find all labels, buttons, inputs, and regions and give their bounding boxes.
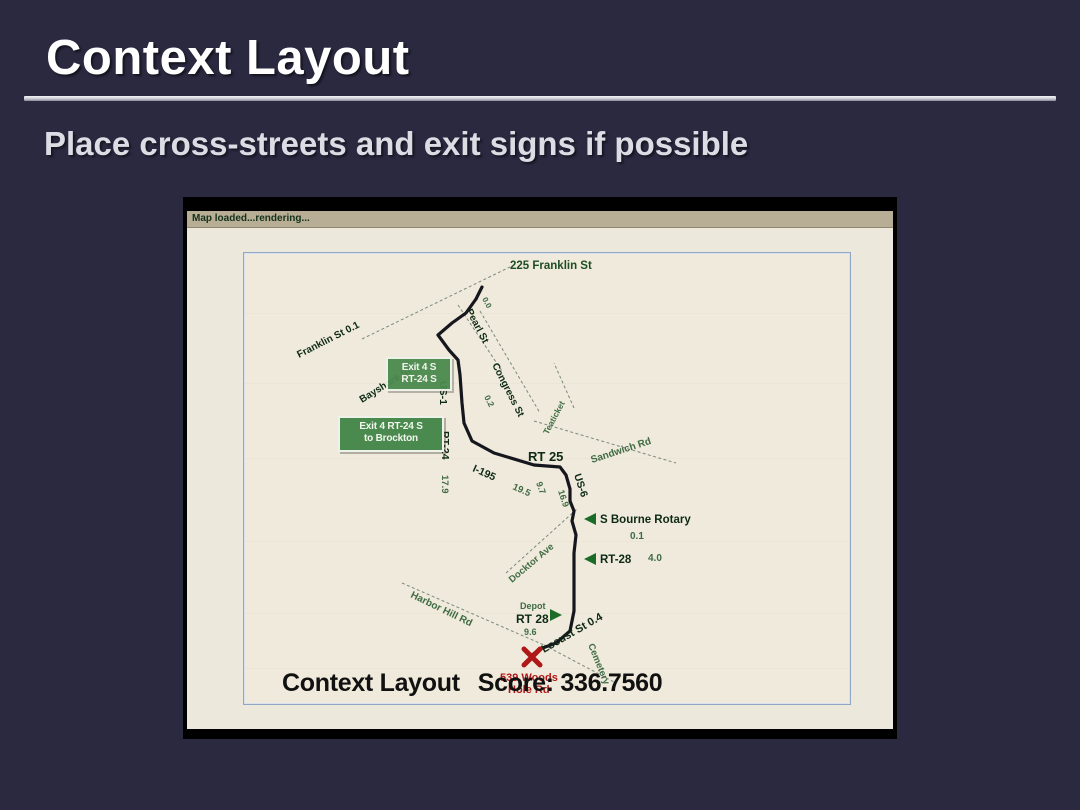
status-message: Map loaded...rendering... [192,213,310,224]
map-caption-score-label: Score: [478,669,554,697]
label-rt24-distance: 17.9 [439,475,450,494]
label-rt28-highway-distance: 4.0 [648,553,662,564]
map-canvas[interactable]: 225 Franklin St Franklin St 0.1 Pearl St… [243,252,851,705]
label-i195: I-195 [471,463,498,484]
embedded-app-screenshot: Map loaded...rendering... [183,197,897,739]
label-pearl-st-distance: 0.0 [480,296,493,311]
label-rt28: RT 28 [516,612,549,626]
slide-subtitle: Place cross-streets and exit signs if po… [44,125,748,163]
label-franklin-st: Franklin St 0.1 [295,320,361,361]
exit-sign-brockton-line1: Exit 4 RT-24 S [345,421,437,433]
label-congress-st: Congress St [489,361,526,419]
label-rt28-highway: RT-28 [600,554,632,566]
exit-sign-rt24s-line2: RT-24 S [393,374,445,386]
exit-sign-brockton-line2: to Brockton [345,433,437,445]
exit-sign-rt24s[interactable]: Exit 4 S RT-24 S [386,357,452,391]
route-path [438,299,576,655]
label-s-bourne-rotary-distance: 0.1 [630,531,644,542]
label-rt28-distance: 9.6 [524,627,537,637]
label-harbor-hill-rd: Harbor Hill Rd [409,590,474,629]
page-title: Context Layout [46,30,410,86]
label-congress-st-distance: 0.2 [482,393,496,408]
label-rt25-distance: 9.7 [534,480,548,495]
map-graphic: 225 Franklin St Franklin St 0.1 Pearl St… [244,253,850,704]
label-docktor-ave: Docktor Ave [507,541,556,585]
label-teaticket: Teaticket [541,399,567,436]
label-rt25: RT 25 [528,449,563,464]
label-depot: Depot [520,601,546,611]
exit-sign-brockton[interactable]: Exit 4 RT-24 S to Brockton [338,416,444,452]
status-bar: Map loaded...rendering... [187,211,893,228]
map-caption-label: Context Layout [282,669,460,697]
destination-marker [524,649,540,665]
app-window: Map loaded...rendering... [187,211,893,729]
origin-label: 225 Franklin St [510,260,592,272]
title-divider [24,96,1056,101]
label-us6: US-6 [571,472,590,499]
label-s-bourne-rotary: S Bourne Rotary [600,514,691,526]
exit-sign-rt24s-line1: Exit 4 S [393,362,445,374]
map-caption: Context LayoutScore: 336.7560 [282,669,662,698]
label-i195-distance: 19.5 [511,482,533,500]
map-caption-score-value: 336.7560 [560,669,662,697]
label-sandwich-rd: Sandwich Rd [590,436,653,466]
route-origin-stub [476,287,482,299]
